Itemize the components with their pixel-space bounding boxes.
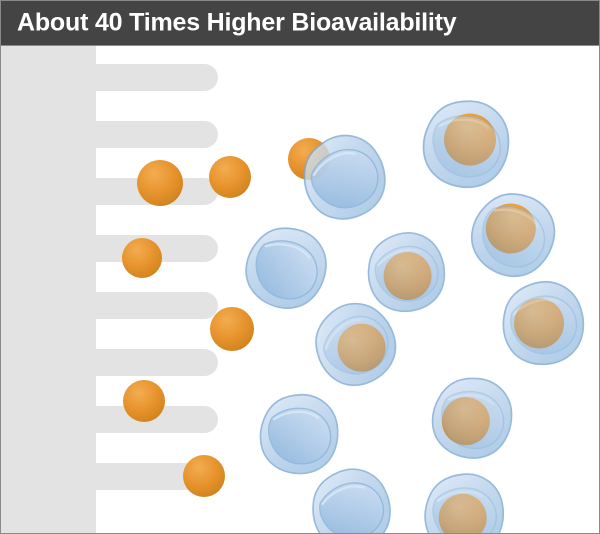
liposome-empty bbox=[234, 215, 338, 320]
villus bbox=[61, 292, 218, 319]
absorption-scene bbox=[1, 46, 600, 534]
liposome-filled bbox=[424, 369, 521, 468]
intestinal-wall-base bbox=[1, 46, 96, 534]
nutrient-particle bbox=[209, 156, 251, 198]
liposome-filled bbox=[363, 228, 449, 316]
nutrient-particle bbox=[137, 160, 183, 206]
villus bbox=[61, 349, 218, 376]
liposomes-group bbox=[234, 93, 586, 534]
liposome-filled bbox=[500, 279, 587, 368]
liposome-empty bbox=[305, 463, 397, 534]
liposome-filled bbox=[423, 471, 506, 534]
villus bbox=[61, 64, 218, 91]
figure-title: About 40 Times Higher Bioavailability bbox=[17, 9, 456, 38]
nutrient-particle bbox=[183, 455, 225, 497]
bioavailability-figure: About 40 Times Higher Bioavailability bbox=[0, 0, 600, 534]
illustration-canvas bbox=[1, 46, 600, 534]
figure-header-bar: About 40 Times Higher Bioavailability bbox=[1, 1, 599, 46]
liposome-empty bbox=[256, 389, 343, 478]
liposome-filled bbox=[416, 93, 516, 195]
nutrient-particle bbox=[123, 380, 165, 422]
villus bbox=[61, 121, 218, 148]
liposome-filled bbox=[458, 179, 568, 290]
nutrient-particle bbox=[122, 238, 162, 278]
intestinal-wall bbox=[1, 46, 218, 534]
nutrient-particle bbox=[210, 307, 254, 351]
